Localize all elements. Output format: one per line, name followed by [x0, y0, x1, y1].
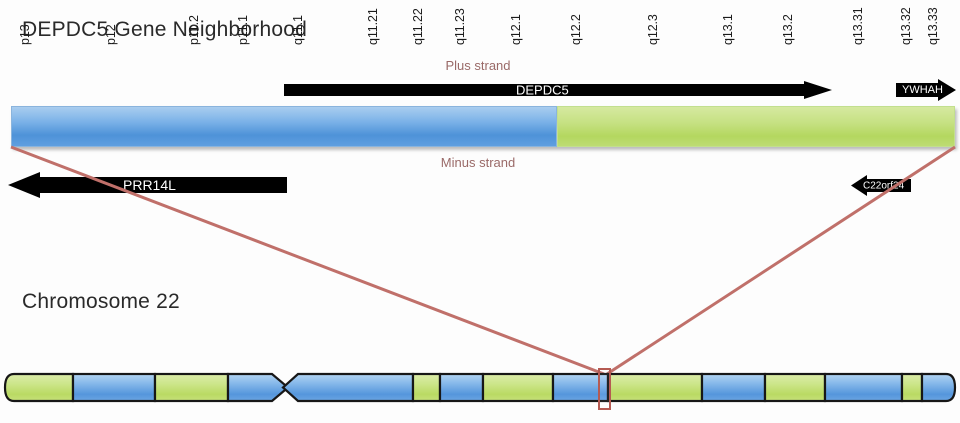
- figure-canvas: DEPDC5 Gene Neighborhood Chromosome 22 P…: [0, 0, 960, 423]
- band-label-q12-1: q12.1: [509, 14, 523, 45]
- gene-label-ywhah: YWHAH: [902, 84, 943, 96]
- gene-arrow-depdc5[interactable]: DEPDC5: [284, 81, 832, 99]
- band-label-q13-33: q13.33: [926, 7, 940, 45]
- band-label-q13-1: q13.1: [721, 14, 735, 45]
- band-label-p12: p12: [104, 24, 118, 45]
- gene-label-prr14l: PRR14L: [123, 177, 176, 193]
- band-label-q13-32: q13.32: [899, 7, 913, 45]
- band-label-q13-31: q13.31: [851, 7, 865, 45]
- locus-segment-blue: [11, 106, 557, 147]
- chromosome-ideogram: [0, 370, 960, 406]
- band-label-q11-1: q11.1: [291, 15, 305, 45]
- gene-arrow-prr14l[interactable]: PRR14L: [8, 172, 287, 198]
- band-label-q13-2: q13.2: [781, 14, 795, 45]
- band-label-q11-23: q11.23: [453, 8, 467, 45]
- gene-label-c22orf24: C22orf24: [863, 180, 904, 191]
- page-title: DEPDC5 Gene Neighborhood: [22, 18, 307, 42]
- band-label-q11-22: q11.22: [411, 8, 425, 45]
- band-label-q12-3: q12.3: [646, 14, 660, 45]
- locus-marker-box: [598, 368, 611, 410]
- band-label-q12-2: q12.2: [569, 14, 583, 45]
- minus-strand-label: Minus strand: [441, 155, 515, 170]
- chromosome-title: Chromosome 22: [22, 290, 180, 314]
- gene-label-depdc5: DEPDC5: [516, 83, 569, 98]
- gene-arrow-c22orf24[interactable]: C22orf24: [851, 175, 911, 196]
- band-label-p13: p13: [18, 24, 32, 45]
- locus-segment-green: [557, 106, 955, 147]
- band-label-p11-1: p11.1: [236, 15, 250, 45]
- band-label-q11-21: q11.21: [366, 8, 380, 45]
- plus-strand-label: Plus strand: [445, 58, 510, 73]
- band-label-p11-2: p11.2: [187, 15, 201, 45]
- gene-arrow-ywhah[interactable]: YWHAH: [896, 79, 956, 101]
- locus-bar: [11, 106, 955, 147]
